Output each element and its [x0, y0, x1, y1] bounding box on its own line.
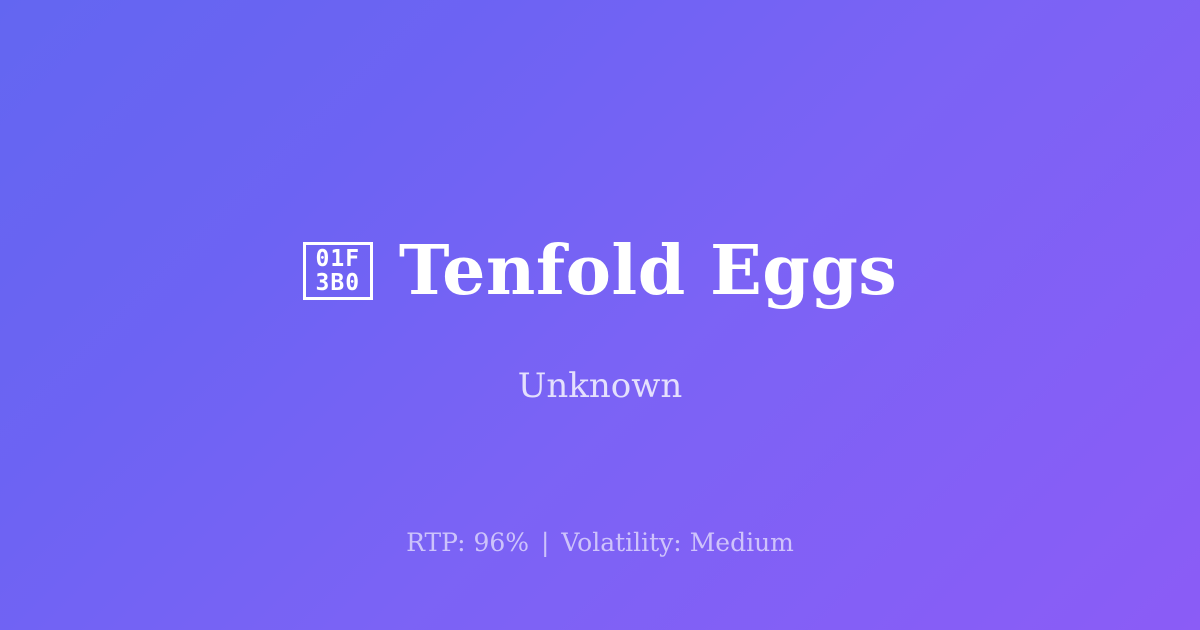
- page-title: Tenfold Eggs: [399, 232, 897, 310]
- rtp-value: 96%: [473, 528, 529, 557]
- slot-machine-icon: 01F 3B0: [303, 242, 373, 300]
- tofu-codepoint-line-1: 01F: [316, 247, 361, 271]
- meta-separator: |: [537, 528, 553, 557]
- game-og-card: 01F 3B0 Tenfold Eggs Unknown RTP: 96% | …: [0, 0, 1200, 630]
- title-row: 01F 3B0 Tenfold Eggs: [0, 232, 1200, 310]
- game-provider-subtitle: Unknown: [0, 363, 1200, 409]
- game-meta-line: RTP: 96% | Volatility: Medium: [0, 526, 1200, 560]
- rtp-label: RTP:: [406, 528, 465, 557]
- tofu-codepoint-line-2: 3B0: [316, 271, 361, 295]
- volatility-value: Medium: [690, 528, 794, 557]
- volatility-label: Volatility:: [561, 528, 681, 557]
